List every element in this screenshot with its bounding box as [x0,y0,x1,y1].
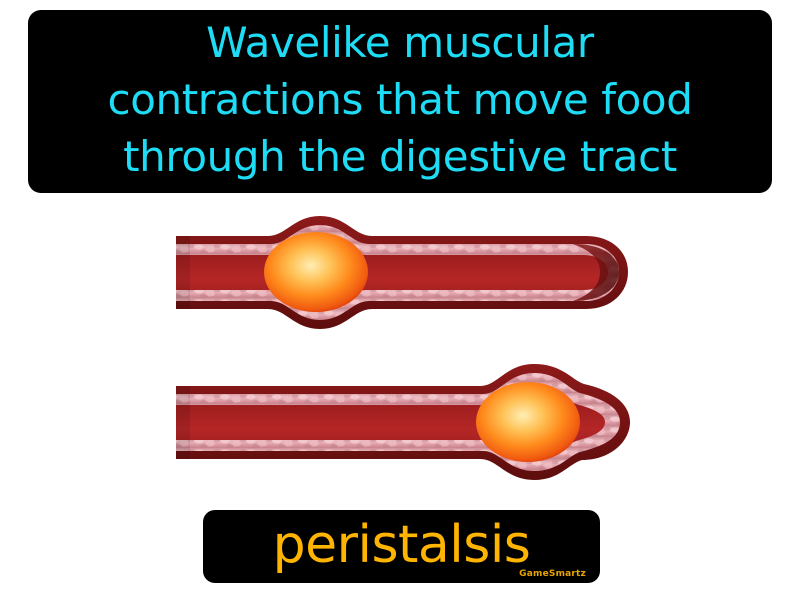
peristalsis-figure-bolus-right [168,360,638,485]
peristalsis-figure-bolus-left [168,210,638,335]
definition-text: Wavelike muscular contractions that move… [108,14,693,185]
term-panel: peristalsis GameSmartz [203,510,600,583]
tube-cut-edge [176,236,190,309]
food-bolus [476,382,580,462]
watermark-label: GameSmartz [519,569,586,579]
food-bolus [264,232,368,312]
tube-cut-edge [176,386,190,459]
definition-panel: Wavelike muscular contractions that move… [28,10,772,193]
term-label: peristalsis [273,517,531,573]
illustration-stage [0,198,800,503]
